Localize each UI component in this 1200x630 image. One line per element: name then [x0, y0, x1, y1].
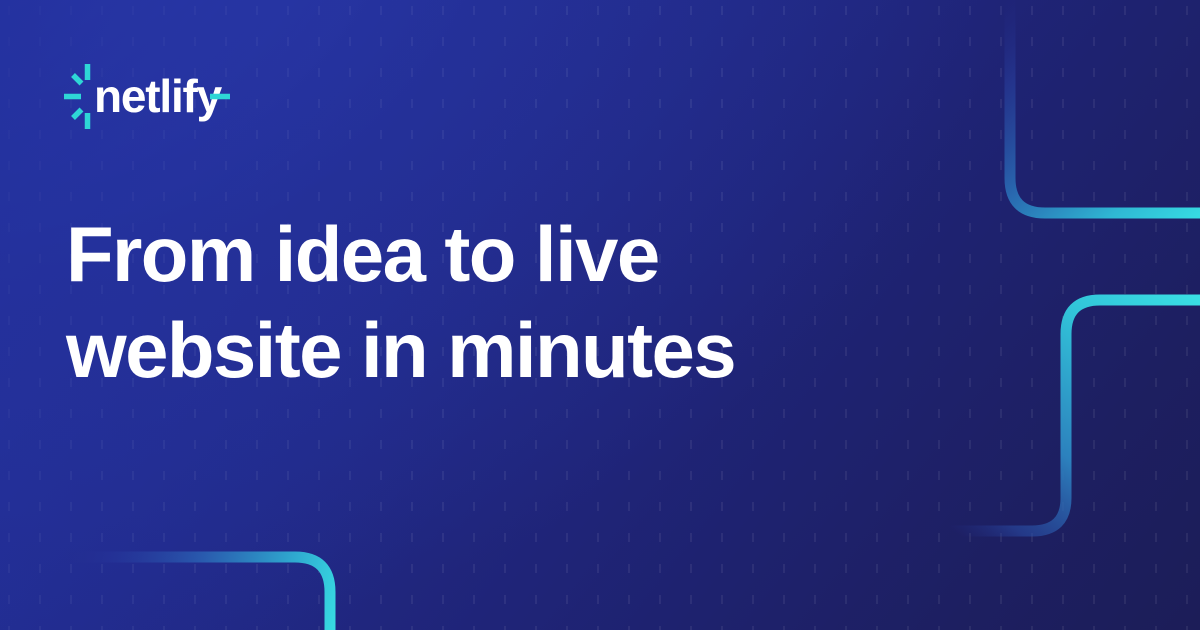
netlify-wordmark: netlify: [94, 70, 223, 122]
netlify-logo[interactable]: netlify: [62, 62, 232, 132]
netlify-spark-mark: [64, 64, 88, 129]
corner-path-top-right: [1010, 0, 1200, 213]
headline: From idea to live website in minutes: [66, 206, 826, 398]
corner-path-bottom-left: [40, 557, 330, 630]
corner-path-mid-right: [880, 300, 1200, 531]
og-card: netlify From idea to live website in min…: [0, 0, 1200, 630]
